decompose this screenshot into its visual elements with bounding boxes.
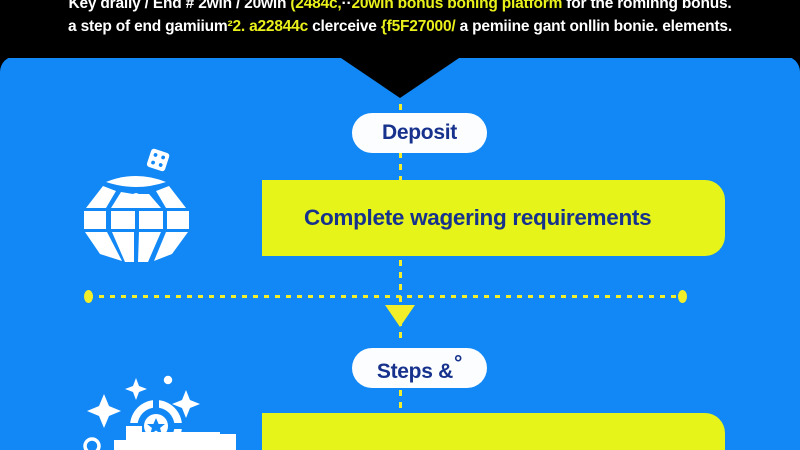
- divider-end-dot-left: [84, 290, 93, 303]
- header-text-run: 20win bonus boning platform: [351, 0, 562, 12]
- down-arrow-icon: [385, 305, 415, 327]
- step-pill-deposit[interactable]: Deposit: [352, 113, 487, 153]
- step-pill-superscript: °: [454, 352, 462, 375]
- step-pill-deposit-label: Deposit: [382, 121, 457, 145]
- header-text-run: ··: [342, 0, 352, 12]
- header-notch-triangle: [338, 56, 462, 98]
- header-text-run: a step of end gamiium: [68, 18, 227, 35]
- sparkle-icon: [125, 378, 147, 400]
- header-text-run: (2484c,: [290, 0, 341, 12]
- sparkle-icon: [87, 394, 121, 428]
- casino-chip-icon: [70, 368, 260, 450]
- step-bar-2-label: Complete wargeivœ funds: [262, 427, 578, 450]
- diamond-gem-icon: [76, 142, 196, 262]
- step-pill-steps[interactable]: Steps &°: [352, 348, 487, 388]
- header-line-2: a step of end gamiium²2. a22844c clercei…: [68, 17, 732, 37]
- step-bar-2: Complete wargeivœ funds: [262, 413, 725, 450]
- step-bar-1-label: Complete wagering requirements: [262, 205, 651, 231]
- horizontal-dashed-divider: [88, 295, 682, 298]
- header-text-run: clerceive: [308, 18, 381, 35]
- header-text-run: ²2. a22844c: [227, 18, 308, 35]
- header-text-run: Key drally / End # 2win / 20win: [68, 0, 290, 12]
- infographic-canvas: Complete wagering requirements Complete …: [0, 0, 800, 450]
- header-text-run: a pemiine gant onllin bonie. elements.: [456, 18, 732, 35]
- header-line-1: Key drally / End # 2win / 20win (2484c,·…: [68, 0, 731, 11]
- step-pill-steps-label: Steps &°: [377, 352, 462, 384]
- divider-end-dot-right: [678, 290, 687, 303]
- header-banner: Key drally / End # 2win / 20win (2484c,·…: [0, 0, 800, 58]
- step-bar-1: Complete wagering requirements: [262, 180, 725, 256]
- header-text-run: {f5F27000/: [381, 18, 456, 35]
- header-text-run: for the rominng bonus.: [562, 0, 731, 12]
